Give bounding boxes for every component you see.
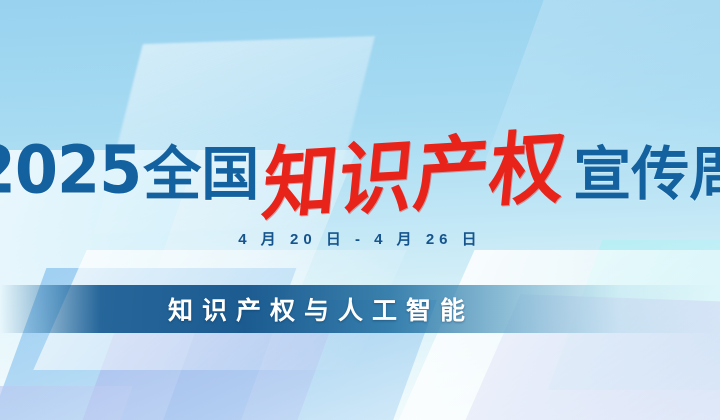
headline-nation: 全国	[143, 127, 259, 211]
decorative-shape-parallelogram-2	[61, 330, 331, 420]
headline-tail: 宣传周	[573, 127, 720, 211]
slogan-bar: 知识产权与人工智能	[0, 285, 720, 333]
decorative-shape-right-white-sweep	[385, 250, 720, 420]
decorative-shape-shard-bottom-left	[0, 386, 133, 420]
headline: 2025 全国 知识产权 宣传周	[0, 123, 720, 215]
ip-week-banner: 2025 全国 知识产权 宣传周 4 月 20 日 - 4 月 26 日 知识产…	[0, 0, 720, 420]
date-range: 4 月 20 日 - 4 月 26 日	[0, 228, 720, 249]
slogan-text: 知识产权与人工智能	[168, 291, 474, 327]
headline-emphasis: 知识产权	[259, 102, 573, 236]
headline-year: 2025	[0, 130, 141, 207]
